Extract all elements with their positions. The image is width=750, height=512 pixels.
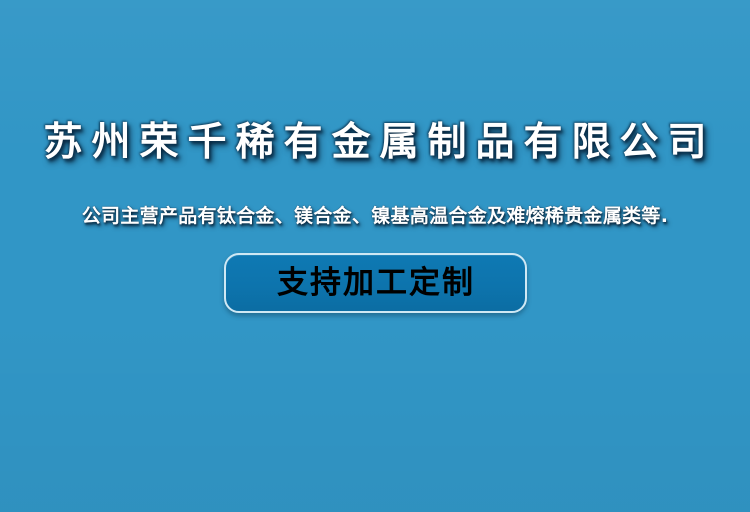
custom-processing-button[interactable]: 支持加工定制 xyxy=(224,253,527,313)
promo-banner: 苏州荣千稀有金属制品有限公司 公司主营产品有钛合金、镁合金、镍基高温合金及难熔稀… xyxy=(0,0,750,512)
banner-content: 苏州荣千稀有金属制品有限公司 公司主营产品有钛合金、镁合金、镍基高温合金及难熔稀… xyxy=(0,0,750,512)
cta-container: 支持加工定制 xyxy=(0,253,750,313)
company-title: 苏州荣千稀有金属制品有限公司 xyxy=(0,119,750,167)
custom-processing-button-label: 支持加工定制 xyxy=(275,266,475,300)
product-subtitle: 公司主营产品有钛合金、镁合金、镍基高温合金及难熔稀贵金属类等. xyxy=(0,203,750,229)
